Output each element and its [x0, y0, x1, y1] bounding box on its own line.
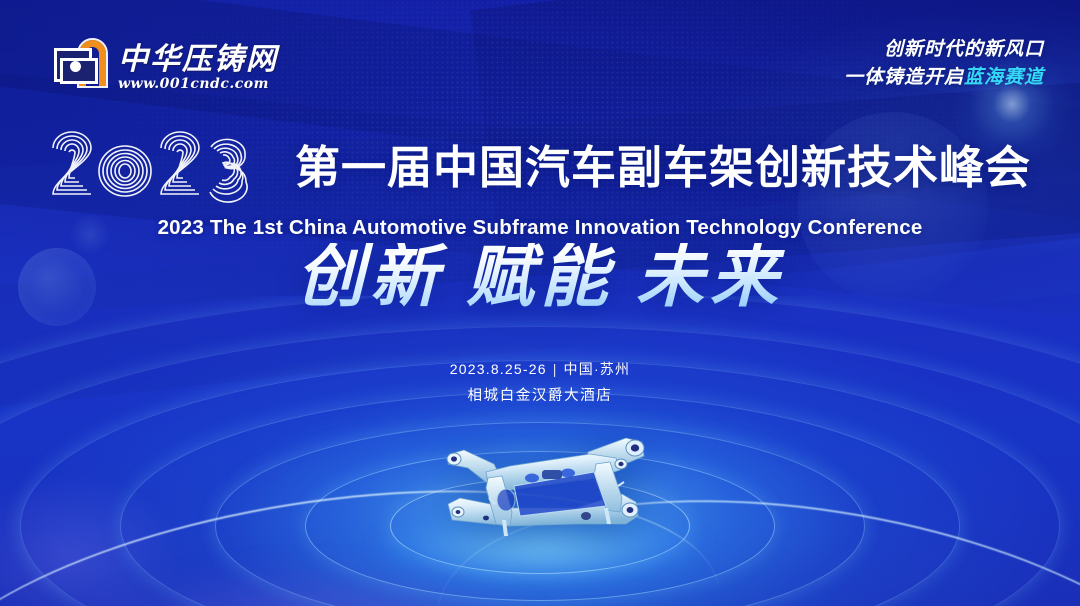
tagline-line-2-plain: 一体铸造开启 — [844, 67, 964, 88]
tagline-line-2: 一体铸造开启蓝海赛道 — [844, 64, 1044, 92]
factory-logo-icon — [52, 36, 112, 94]
tagline: 创新时代的新风口 一体铸造开启蓝海赛道 — [844, 36, 1044, 91]
logo-name-cn: 中华压铸网 — [118, 44, 278, 76]
slogan: 创新赋能未来 — [0, 243, 1080, 311]
logo-dot — [70, 61, 81, 72]
event-date: 2023.8.25-26 — [450, 361, 547, 377]
page-subtitle: 2023 The 1st China Automotive Subframe I… — [0, 216, 1080, 240]
title-block: 第一届中国汽车副车架创新技术峰会 2023 The 1st China Auto… — [0, 130, 1080, 240]
page-title: 第一届中国汽车副车架创新技术峰会 — [295, 145, 1031, 190]
year-2023-graphic — [49, 130, 273, 204]
bokeh-orb — [0, 476, 180, 606]
subframe-illustration — [390, 412, 690, 562]
meta-separator: | — [553, 361, 558, 377]
logo-url[interactable]: www.001cndc.com — [118, 76, 278, 92]
event-venue: 相城白金汉爵大酒店 — [0, 383, 1080, 411]
subframe-product-image — [390, 412, 690, 562]
site-logo[interactable]: 中华压铸网 www.001cndc.com — [52, 36, 278, 94]
title-row: 第一届中国汽车副车架创新技术峰会 — [0, 130, 1080, 204]
tagline-line-2-highlight: 蓝海赛道 — [964, 67, 1044, 88]
slogan-word-1: 创新 — [296, 239, 444, 315]
event-date-location: 2023.8.25-26|中国·苏州 — [0, 356, 1080, 383]
slogan-word-2: 赋能 — [466, 239, 614, 315]
logo-text-block: 中华压铸网 www.001cndc.com — [118, 44, 278, 95]
event-meta: 2023.8.25-26|中国·苏州 相城白金汉爵大酒店 — [0, 356, 1080, 410]
conference-poster: 中华压铸网 www.001cndc.com 创新时代的新风口 一体铸造开启蓝海赛… — [0, 0, 1080, 606]
event-location: 中国·苏州 — [564, 361, 631, 377]
tagline-line-1: 创新时代的新风口 — [844, 36, 1044, 64]
slogan-word-3: 未来 — [636, 239, 784, 315]
